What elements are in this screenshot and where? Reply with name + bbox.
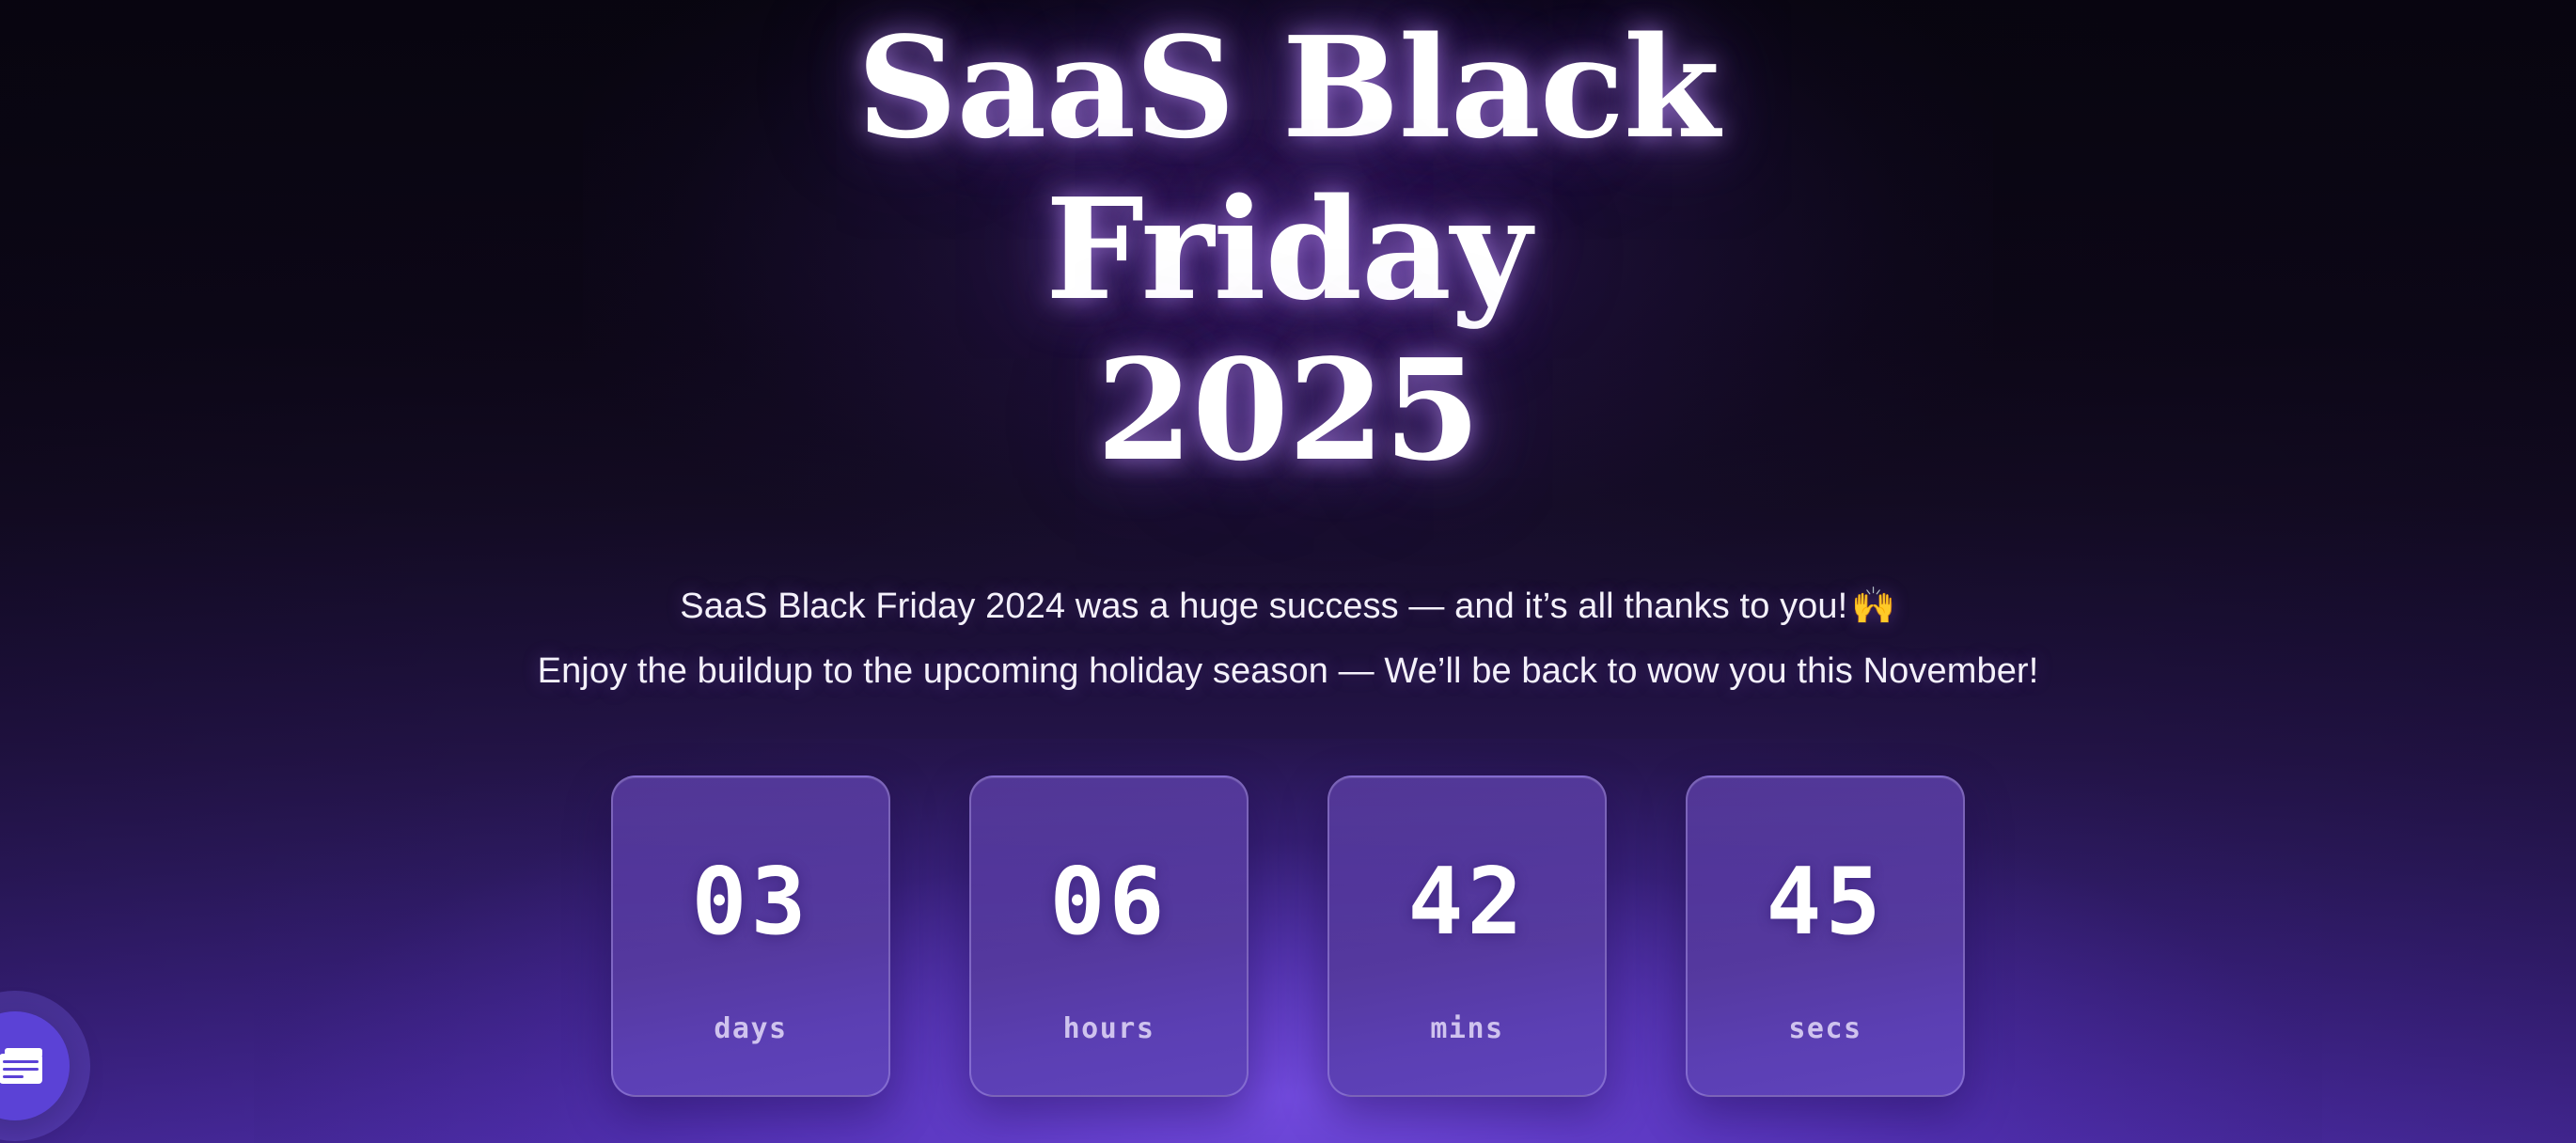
countdown-value-mins: 42 xyxy=(1407,856,1526,948)
chat-icon-line-3 xyxy=(3,1075,24,1078)
countdown-label-mins: mins xyxy=(1430,1012,1503,1045)
chat-icon-line-2 xyxy=(3,1068,39,1071)
subcopy-line-1: SaaS Black Friday 2024 was a huge succes… xyxy=(538,582,2039,630)
page-title: SaaS Black Friday 2025 xyxy=(620,8,1956,492)
countdown-value-secs: 45 xyxy=(1766,856,1884,948)
page-title-line-1: SaaS Black Friday xyxy=(857,6,1720,331)
countdown-label-days: days xyxy=(714,1012,787,1045)
countdown-label-hours: hours xyxy=(1063,1012,1155,1045)
hero-section: SaaS Black Friday 2025 SaaS Black Friday… xyxy=(0,0,2576,1143)
raising-hands-emoji-icon: 🙌 xyxy=(1851,582,1895,629)
countdown-card-hours: 06 hours xyxy=(969,775,1249,1097)
page-title-line-2: 2025 xyxy=(1096,328,1480,492)
chat-widget-button[interactable] xyxy=(0,1011,70,1120)
countdown-card-days: 03 days xyxy=(611,775,890,1097)
countdown-timer: 03 days 06 hours 42 mins 45 secs xyxy=(611,775,1965,1097)
countdown-label-secs: secs xyxy=(1788,1012,1861,1045)
countdown-card-secs: 45 secs xyxy=(1686,775,1965,1097)
chat-message-icon xyxy=(0,1048,42,1084)
hero-subcopy: SaaS Black Friday 2024 was a huge succes… xyxy=(538,582,2039,695)
subcopy-line-1-text: SaaS Black Friday 2024 was a huge succes… xyxy=(680,587,1847,626)
chat-icon-line-1 xyxy=(3,1060,39,1063)
subcopy-line-2: Enjoy the buildup to the upcoming holida… xyxy=(538,648,2039,695)
countdown-value-hours: 06 xyxy=(1049,856,1168,948)
countdown-value-days: 03 xyxy=(691,856,809,948)
countdown-card-mins: 42 mins xyxy=(1327,775,1607,1097)
